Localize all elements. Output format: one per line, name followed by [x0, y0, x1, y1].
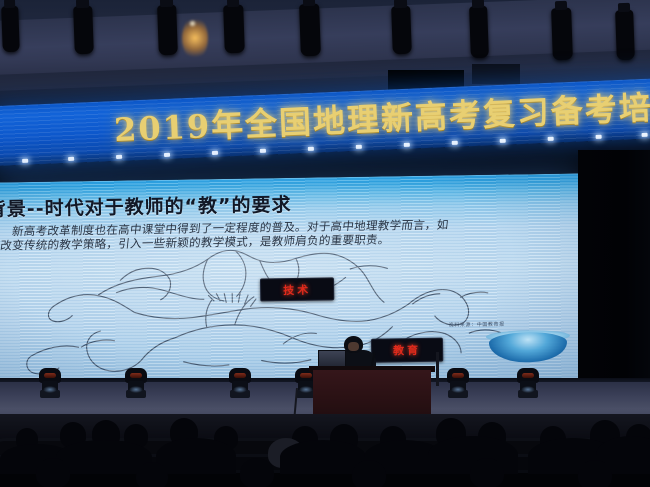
- equipment-stand: [436, 352, 439, 386]
- stage-light-fixture: [157, 5, 178, 56]
- moving-head-glow: [43, 386, 57, 393]
- stage-curtain-right: [578, 150, 650, 410]
- audience-head-front-row: [136, 462, 168, 487]
- audience-head-front-row: [578, 460, 612, 487]
- led-dot: [68, 157, 74, 161]
- led-dot: [308, 147, 314, 151]
- stage-light-fixture: [223, 5, 245, 54]
- stage-light-fixture: [73, 6, 94, 55]
- slide-label-technology-text: 技术: [283, 281, 311, 297]
- moving-head-light: [38, 368, 62, 398]
- moving-head-glow: [521, 386, 535, 393]
- auditorium-photo: 2019年全国地理新高考复习备考培: [0, 0, 650, 487]
- led-dot: [548, 137, 554, 141]
- moving-head-lens: [300, 373, 312, 378]
- projection-screen: 背景--时代对于教师的“教”的要求 新高考改革制度也在高中课堂中得到了一定程度的…: [0, 173, 586, 388]
- audience-head-front-row: [240, 458, 274, 487]
- lamp-glow-hotspot: [188, 20, 197, 27]
- moving-head-light: [446, 368, 470, 398]
- moving-head-lens: [44, 373, 56, 378]
- led-dot: [500, 139, 506, 143]
- led-dot: [212, 151, 218, 155]
- audience-head-front-row: [36, 458, 70, 487]
- audience-head-front-row: [352, 460, 386, 487]
- led-dot: [452, 141, 458, 145]
- moving-head-light: [228, 368, 252, 398]
- slide-title: 背景--时代对于教师的“教”的要求: [0, 190, 292, 222]
- stage-light-fixture: [551, 8, 573, 61]
- moving-head-light: [124, 368, 148, 398]
- stage-light-fixture: [615, 10, 635, 61]
- led-dot: [116, 155, 122, 159]
- moving-head-glow: [233, 386, 247, 393]
- moving-head-lens: [452, 373, 464, 378]
- led-dot: [260, 149, 266, 153]
- led-dot: [164, 153, 170, 157]
- moving-head-lens: [234, 373, 246, 378]
- moving-head-light: [516, 368, 540, 398]
- moving-head-lens: [130, 373, 142, 378]
- led-dot: [404, 143, 410, 147]
- slide-label-education-text: 教育: [393, 342, 421, 358]
- ceiling-panel-gap: [472, 64, 520, 84]
- slide-label-plate-education: 教育: [371, 338, 443, 363]
- moving-head-lens: [522, 373, 534, 378]
- led-dot: [22, 159, 28, 163]
- moving-head-glow: [129, 386, 143, 393]
- audience-area: [0, 414, 650, 487]
- led-dot: [596, 135, 602, 139]
- audience-shoulders: [156, 438, 236, 474]
- presenter-face: [348, 342, 359, 351]
- led-dot: [642, 133, 648, 137]
- audience-head-front-row: [470, 458, 504, 487]
- slide-footer-note: 资料来源：中国教育报: [449, 321, 505, 329]
- stage-light-fixture: [1, 6, 20, 53]
- led-dot: [356, 145, 362, 149]
- moving-head-glow: [299, 386, 313, 393]
- stage-light-fixture: [391, 6, 412, 55]
- moving-head-glow: [451, 386, 465, 393]
- stage-light-fixture: [469, 6, 489, 59]
- slide-label-plate-technology: 技术: [260, 277, 334, 301]
- stage-light-fixture: [299, 4, 321, 57]
